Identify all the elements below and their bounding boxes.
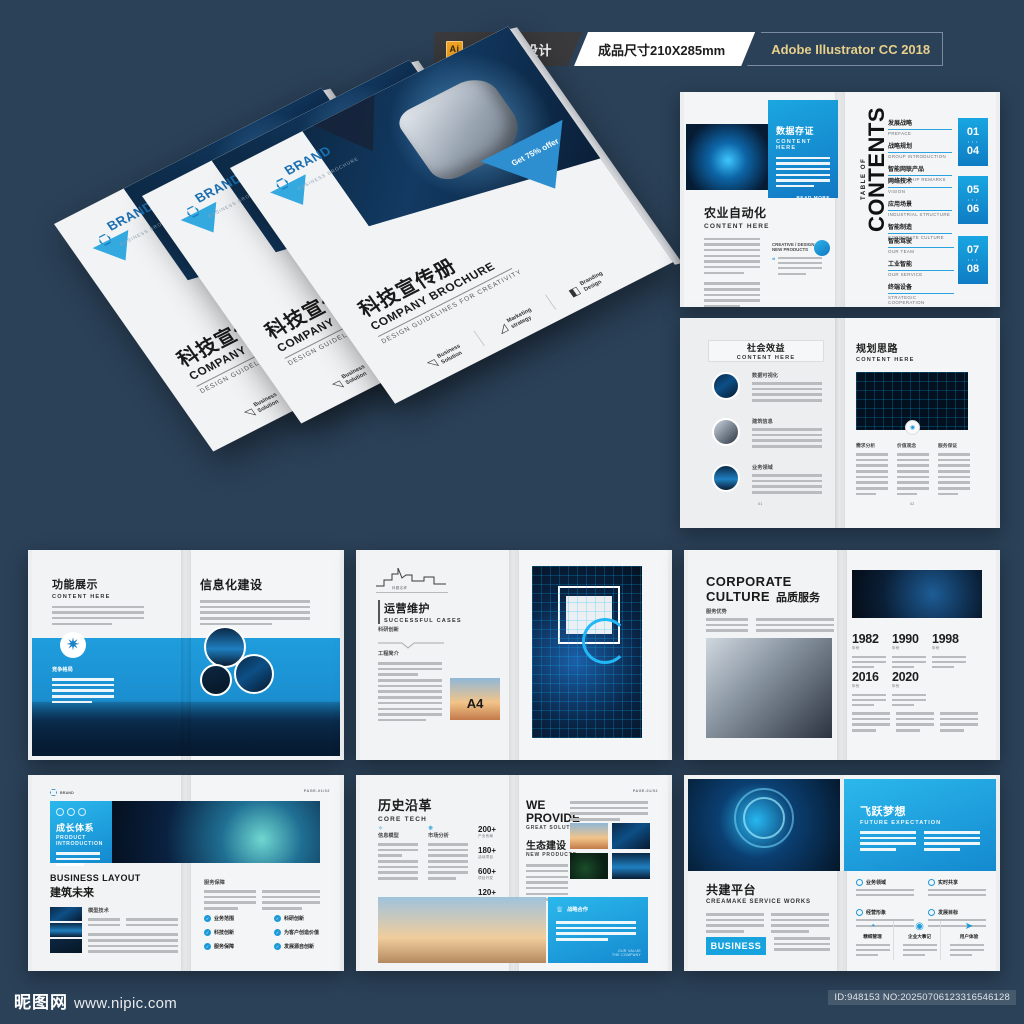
timeline-item-3: 2016 年份 [852,670,886,710]
timeline-year: 1998 [932,632,966,646]
spread-function-display: 功能展示 CONTENT HERE ✷ 竞争格局 信息化建设 [28,550,344,760]
paper-plane-icon: ◹ [330,378,345,393]
social-item-0: 数据可视化 [712,372,822,405]
bullet-label: 实时共享 [938,879,958,886]
skyline-photo [200,664,232,696]
stat-label: 项目开发 [478,876,496,881]
toc-item-en: OUR TEAM [888,249,954,254]
divider [545,294,556,309]
thumb-photo [50,907,82,921]
check-icon: ✓ [204,929,211,936]
future-title-en: FUTURE EXPECTATION [860,820,941,826]
toc-number: 05 [967,183,979,198]
page-mark-left: 01 [758,502,762,506]
toc-item-cn: 智能制造 [888,222,952,231]
timeline-year: 1982 [852,632,886,646]
cooperation-title: 战略合作 [567,906,588,913]
future-icon-label: 精细管理 [856,934,889,940]
timeline-item-0: 1982 年份 [852,632,886,672]
tech-photo [234,654,274,694]
bullet-label: 科技创新 [214,929,234,936]
badge-icon [56,808,64,816]
toc-item-en: VISION [888,189,952,194]
robot-chip-photo [532,566,642,738]
spread-gutter [509,550,519,760]
bullet-5[interactable]: ✓发展源自创新 [274,943,344,950]
spread-social-benefit: 社会效益 CONTENT HERE 数据可视化 建筑信息 业务领域 01 [680,318,1000,528]
timeline-year: 2016 [852,670,886,684]
toc-item-cn: 战略规划 [888,141,952,150]
quote-icon: ❝ [772,257,775,278]
dots-icon: • • • [968,198,979,202]
thumb-photo [50,939,82,953]
model-block: 模型技术 [50,907,178,956]
business-lines [774,937,830,954]
spread-gutter [835,318,845,528]
planning-title-block: 规划思路 CONTENT HERE [856,340,915,363]
timeline-item-4: 2020 年份 [892,670,926,710]
cover-feature-icons: ◹ BusinessSolution [330,364,371,393]
history-title-block: 历史沿革 CORE TECH [378,795,432,823]
cooperation-panel: ♕ 战略合作 OUR VALUE THE COMPANY [548,897,648,963]
future-icon-1[interactable]: ◉ 企业大事记 [903,921,941,960]
toc-group-0[interactable]: 发展战略PREFACE 战略规划GROUP INTRODUCTION 智能网联产… [888,118,952,182]
toc-number: 06 [967,202,979,217]
spread-gutter [181,550,191,760]
page-number: PAGE-01/02 [304,789,330,793]
function-title-cn: 功能展示 [52,576,144,592]
spread-history-core-tech: 历史沿革 CORE TECH ✧ 信息模型 ❋ 市场分析 200+ 产业布局 1… [356,775,672,971]
check-icon: ✓ [204,943,211,950]
platform-title-en: CREAMAKE SERVICE WORKS [706,899,829,905]
skyline-chart [376,566,446,588]
toc-item-cn: 工业智能 [888,259,954,268]
ops-title-block: 运营维护 SUCCESSFUL CASES [378,600,462,624]
circle-icon [856,879,863,886]
site-name-cn: 昵图网 [14,988,68,1013]
timeline-label: 年份 [852,684,886,689]
we-provide-lines [570,801,648,824]
ops-title-cn: 运营维护 [384,600,462,616]
timeline-item-1: 1990 年份 [892,632,926,672]
thumb-stack [50,907,82,956]
dots-icon: • • • [968,140,979,144]
check-icon: ✓ [204,915,211,922]
toc-item-cn: 应用场景 [888,199,952,208]
building-photo [378,897,546,963]
timeline-row-1: 1982 年份 1990 年份 1998 年份 [852,632,966,672]
future-panel: 飞跃梦想 FUTURE EXPECTATION [844,779,996,871]
history-title-en: CORE TECH [378,816,432,823]
social-title-box: 社会效益 CONTENT HERE [708,340,824,362]
page-number: PAGE-01/02 [633,789,658,793]
sunset-photo: A4 [450,678,500,720]
cover-feature-2: ◧ BrandingDesign [566,271,609,300]
spread-growth-system: BRAND PAGE-01/02 成长体系 PRODUCT INTRODUCTI… [28,775,344,971]
ops-sub2: 工程简介 [378,650,399,657]
bullet-label: 发展源自创新 [284,943,314,950]
clock-icon: ◔ [856,921,889,932]
social-title-en: CONTENT HERE [737,355,796,361]
lightbulb-icon: ◉ [905,420,920,435]
future-icon-label: 用户体验 [950,934,988,940]
badge-icon [78,808,86,816]
banner-segment-software: Adobe Illustrator CC 2018 [747,32,943,66]
bullet-2[interactable]: ✓科技创新 [204,929,266,936]
function-title-en: CONTENT HERE [52,594,144,600]
bullet-3[interactable]: ✓为客户创造价值 [274,929,344,936]
toc-number: 08 [967,262,979,277]
social-title-cn: 社会效益 [747,341,785,354]
hexagon-network-photo [852,570,982,618]
timeline-label: 年份 [892,646,926,651]
cover-feature-icons: ◹ BusinessSolution [242,392,283,421]
stat-label: 活动项目 [478,855,496,860]
stat-2: 600+ 项目开发 [478,867,496,881]
spread-gutter [837,871,847,971]
timeline-label: 年份 [932,646,966,651]
circle-icon [928,909,935,916]
toc-item-cn: 网络技术 [888,176,952,185]
future-title-cn: 飞跃梦想 [860,803,941,819]
product-photo-2 [570,853,608,879]
history-col-0: ✧ 信息模型 [378,825,418,902]
informatization-title-cn: 信息化建设 [200,576,310,593]
spread-table-of-contents: 数据存证 CONTENT HERE READ MORE 农业自动化 CONTEN… [680,92,1000,307]
check-icon: ✓ [274,929,281,936]
social-item-label: 数据可视化 [752,372,822,379]
fingerprint-photo [688,779,840,871]
model-title: 模型技术 [88,907,178,914]
timeline-label: 年份 [852,646,886,651]
ops-title-en: SUCCESSFUL CASES [384,618,462,624]
read-more-link[interactable]: READ MORE [776,195,830,200]
growth-bullets: ✓业务范围 ✓科研创新 ✓科技创新 ✓为客户创造价值 ✓服务保障 ✓发展源自创新 [204,915,344,950]
site-logo: 昵图网 www.nipic.com [14,988,177,1013]
bullet-label: 业务范围 [214,915,234,922]
social-item-2: 业务领域 [712,464,822,497]
bullet-1[interactable]: ✓科研创新 [274,915,344,922]
social-item-label: 建筑信息 [752,418,822,425]
timeline-item-2: 1998 年份 [932,632,966,672]
toc-number: 07 [967,243,979,258]
product-photo-1 [612,823,650,849]
social-item-label: 业务领域 [752,464,822,471]
product-photo-3 [612,853,650,879]
layout-title-cn: 建筑未来 [50,884,141,900]
check-icon: ✓ [274,943,281,950]
spread-operations: 科题名称 运营维护 SUCCESSFUL CASES 科研创新 工程简介 A4 [356,550,672,760]
history-columns: ✧ 信息模型 ❋ 市场分析 200+ 产业布局 180+ 活动项目 6 [378,825,496,902]
toc-item-cn: 智能驾驶 [888,236,954,245]
toc-item-cn: 终端设备 [888,282,954,291]
spread-gutter [837,550,847,760]
growth-brand: BRAND [60,791,74,795]
history-stats: 200+ 产业布局 180+ 活动项目 600+ 项目开发 120+ 实时共享 [478,825,496,902]
toc-group-2[interactable]: 智能驾驶OUR TEAM 工业智能OUR SERVICE 终端设备STRATEG… [888,236,954,305]
toc-number-box-1: 05 • • • 06 [958,176,988,224]
footer-bar: 昵图网 www.nipic.com ID:948153 NO:202507061… [0,980,1024,1024]
bullet-label: 为客户创造价值 [284,929,319,936]
spread-corporate-culture: CORPORATE CULTURE 品质服务 服务优势 1982 年份 1990… [684,550,1000,760]
bullet-label: 发展目标 [938,909,958,916]
history-col-label: 市场分析 [428,832,468,839]
competition-title: 竞争格局 [52,666,114,673]
thumb-photo [50,923,82,937]
future-icon-0[interactable]: ◔ 精细管理 [856,921,894,960]
bullet-label: 经营形象 [866,909,886,916]
culture-title-cn: 品质服务 [776,589,820,605]
paper-plane-icon: ◹ [242,406,257,421]
circle-icon [856,909,863,916]
bullet-4[interactable]: ✓服务保障 [204,943,266,950]
cone-icon: ◿ [495,321,510,336]
toc-item-en: PREFACE [888,131,952,136]
toc-number-box-0: 01 • • • 04 [958,118,988,166]
toc-item-cn: 发展战略 [888,118,952,127]
stat-0: 200+ 产业布局 [478,825,496,839]
bullet-label: 业务领域 [866,879,886,886]
stat-value: 180+ [478,846,496,855]
chart-label: 科题名称 [392,586,407,591]
toc-heading-small-wrap: TABLE OF [852,158,870,200]
growth-banner-en-2: INTRODUCTION [56,841,103,847]
bullet-0[interactable]: ✓业务范围 [204,915,266,922]
check-icon: ✓ [274,915,281,922]
planning-col-label: 价值观念 [897,442,929,449]
planning-col-2: 服务保证 [938,442,970,499]
timeline-row-2: 2016 年份 2020 年份 [852,670,926,710]
send-icon: ➤ [950,921,988,932]
service-block: 服务保障 [204,879,320,913]
poster-canvas: Ai 原创画册设计 成品尺寸210X285mm Adobe Illustrato… [0,0,1024,1024]
future-icon-2[interactable]: ➤ 用户体验 [950,921,988,960]
layers-icon: ◧ [566,284,583,299]
informatization-block: 信息化建设 [200,576,310,628]
stat-value: 600+ [478,867,496,876]
future-icon-label: 企业大事记 [903,934,936,940]
toc-number-box-2: 07 • • • 08 [958,236,988,284]
culture-title-en-1: CORPORATE [706,574,820,589]
business-button[interactable]: BUSINESS [706,937,766,955]
toc-item-en: STRATEGIC COOPERATION [888,295,954,305]
coop-foot-2: THE COMPANY [612,953,641,957]
cover-mockup-stack: BRAND BUSINESS BROCHURE 科技宣传册 COMPANY BR… [24,96,644,526]
paper-plane-icon: ◹ [425,357,440,372]
business-layout-block: BUSINESS LAYOUT 建筑未来 [50,873,141,900]
culture-bottom-lines [852,712,978,735]
toc-number: 01 [967,125,979,140]
wave-divider [378,636,444,644]
divider [376,592,448,593]
planning-title-en: CONTENT HERE [856,357,915,363]
stat-label: 产业布局 [478,834,496,839]
future-icon-row: ◔ 精细管理 ◉ 企业大事记 ➤ 用户体验 [856,921,988,960]
stat-value: 200+ [478,825,496,834]
divider [474,330,485,345]
feature-panel-lines [776,157,830,188]
bullet-label: 科研创新 [284,915,304,922]
planning-title-cn: 规划思路 [856,340,915,355]
function-title-block: 功能展示 CONTENT HERE [52,576,144,628]
culture-title-en-2: CULTURE [706,589,770,604]
badge-icon [67,808,75,816]
pin-icon: ◉ [903,921,936,932]
growth-logo: BRAND [50,789,74,796]
skyline-chart-svg [376,566,446,588]
ops-sub1: 科研创新 [378,626,399,633]
layout-title-en: BUSINESS LAYOUT [50,873,141,883]
title-accent-bar [378,600,380,624]
toc-heading-small: TABLE OF [861,158,867,200]
toc-item-cn: 智能网联产品 [888,164,952,173]
timeline-year: 1990 [892,632,926,646]
banner-segment-size: 成品尺寸210X285mm [574,32,755,66]
hexagon-icon [50,789,57,796]
lab-photo [712,372,740,400]
cover-feature-1: ◿ Marketingstrategy [495,307,538,336]
spread-future-expectation: 飞跃梦想 FUTURE EXPECTATION 共建平台 CREAMAKE SE… [684,775,1000,971]
feature-panel: 数据存证 CONTENT HERE READ MORE [768,100,838,198]
site-url[interactable]: www.nipic.com [74,995,177,1012]
social-item-1: 建筑信息 [712,418,822,451]
article-title-cn: 农业自动化 [704,204,824,221]
article-title-en: CONTENT HERE [704,223,824,230]
planning-col-1: 价值观念 [897,442,929,499]
tech-photo [686,124,770,190]
timeline-label: 年份 [892,684,926,689]
planning-col-label: 需求分析 [856,442,888,449]
star-icon: ✧ [378,825,418,832]
page-mark-right: 02 [910,502,914,506]
toc-number: 04 [967,144,979,159]
toc-item-en: GROUP INTRODUCTION [888,154,952,159]
stat-1: 180+ 活动项目 [478,846,496,860]
globe-icon [814,240,830,256]
culture-lines [706,618,834,635]
future-bullet-0[interactable]: 业务领域 [856,879,920,899]
planning-col-label: 服务保证 [938,442,970,449]
cover-feature-0: ◹ BusinessSolution [242,392,283,421]
culture-title-block: CORPORATE CULTURE 品质服务 [706,574,820,605]
business-hands-photo [706,638,832,738]
history-col-1: ❋ 市场分析 [428,825,468,902]
bullet-label: 服务保障 [214,943,234,950]
planning-columns: 需求分析 价值观念 服务保证 [856,442,970,499]
product-photo-0 [570,823,608,849]
growth-banner-blue: 成长体系 PRODUCT INTRODUCTION [50,801,112,863]
history-title-cn: 历史沿革 [378,795,432,814]
platform-block: 共建平台 CREAMAKE SERVICE WORKS [706,881,829,936]
service-title: 服务保障 [204,879,320,886]
toc-group-1[interactable]: 网络技术VISION 应用场景INDUSTRIAL STRUCTURE 智能制造… [888,176,952,240]
feature-panel-title-cn: 数据存证 [776,124,830,137]
future-bullet-1[interactable]: 实时共享 [928,879,992,899]
stat-value: 120+ [478,888,496,897]
competition-block: 竞争格局 [52,666,114,706]
hands-photo [712,418,740,446]
a4-label: A4 [467,696,484,711]
chart-icon: ❋ [428,825,468,832]
cover-feature-0: ◹ BusinessSolution [425,343,466,372]
asset-id-badge: ID:948153 NO:20250706123316546128 [828,990,1016,1005]
gear-icon: ✷ [60,632,86,658]
timeline-year: 2020 [892,670,926,684]
ops-lines [378,662,442,725]
growth-banner-cn: 成长体系 [56,821,103,834]
dots-icon: • • • [968,258,979,262]
toc-item-en: INDUSTRIAL STRUCTURE [888,212,952,217]
feature-panel-title-en: CONTENT HERE [776,139,830,151]
history-col-label: 信息模型 [378,832,418,839]
culture-sub-cn: 服务优势 [706,608,727,615]
circuit-photo [712,464,740,492]
toc-item-en: OUR SERVICE [888,272,954,277]
handshake-icon: ♕ [556,905,563,914]
platform-title-cn: 共建平台 [706,881,829,898]
space-earth-photo [112,801,320,863]
cover-feature-0: ◹ BusinessSolution [330,364,371,393]
circle-icon [928,879,935,886]
planning-col-0: 需求分析 [856,442,888,499]
